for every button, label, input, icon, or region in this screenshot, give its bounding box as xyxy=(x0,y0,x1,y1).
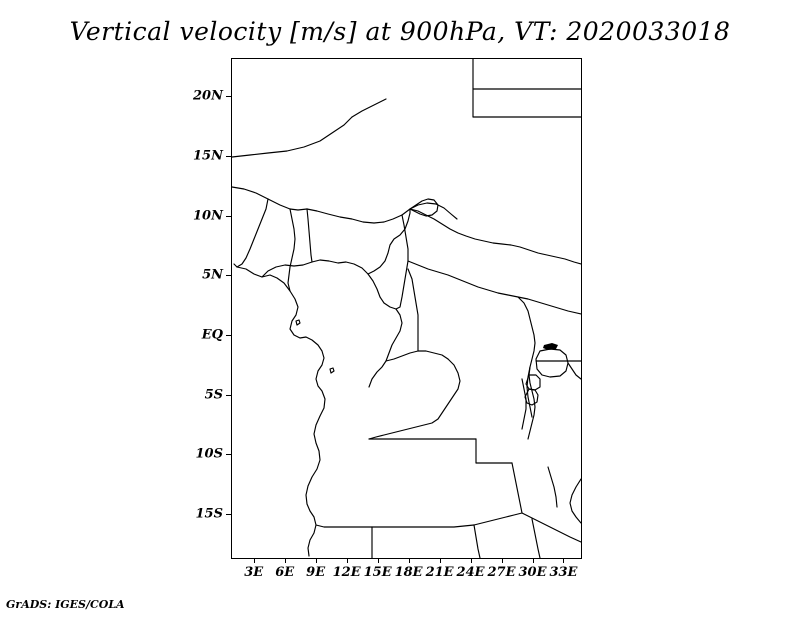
x-axis-tick-mark xyxy=(440,558,441,563)
y-axis-tick-label: 5S xyxy=(185,387,223,402)
x-axis-tick-label: 21E xyxy=(426,565,454,580)
x-axis-tick-mark xyxy=(471,558,472,563)
x-axis-tick-mark xyxy=(285,558,286,563)
x-axis-tick-label: 3E xyxy=(244,565,263,580)
y-axis-tick-mark xyxy=(226,454,231,455)
y-axis-tick-label: 10N xyxy=(185,208,223,223)
y-axis-tick-mark xyxy=(226,514,231,515)
x-axis-tick-label: 6E xyxy=(275,565,294,580)
x-axis-tick-mark xyxy=(254,558,255,563)
x-axis-tick-mark xyxy=(533,558,534,563)
x-axis-tick-mark xyxy=(347,558,348,563)
country-borders-overlay xyxy=(232,59,581,558)
x-axis-tick-label: 24E xyxy=(457,565,485,580)
x-axis-tick-label: 12E xyxy=(333,565,361,580)
y-axis-tick-mark xyxy=(226,96,231,97)
x-axis-tick-label: 33E xyxy=(549,565,577,580)
x-axis-tick-label: 27E xyxy=(488,565,516,580)
x-axis-tick-label: 9E xyxy=(306,565,325,580)
y-axis-tick-label: EQ xyxy=(185,327,223,342)
x-axis-tick-label: 15E xyxy=(364,565,392,580)
x-axis-tick-label: 30E xyxy=(519,565,547,580)
y-axis-tick-label: 15S xyxy=(185,507,223,522)
y-axis-tick-label: 10S xyxy=(185,447,223,462)
y-axis-tick-label: 20N xyxy=(185,89,223,104)
x-axis-tick-mark xyxy=(316,558,317,563)
y-axis-tick-mark xyxy=(226,156,231,157)
y-axis-tick-label: 5N xyxy=(185,268,223,283)
x-axis-tick-mark xyxy=(563,558,564,563)
y-axis-tick-mark xyxy=(226,275,231,276)
attribution-footer: GrADS: IGES/COLA xyxy=(6,598,125,611)
y-axis-tick-mark xyxy=(226,216,231,217)
x-axis-tick-mark xyxy=(409,558,410,563)
x-axis-tick-mark xyxy=(378,558,379,563)
x-axis-tick-label: 18E xyxy=(395,565,423,580)
y-axis-tick-label: 15N xyxy=(185,148,223,163)
y-axis-tick-mark xyxy=(226,395,231,396)
x-axis-tick-mark xyxy=(502,558,503,563)
map-plot-area xyxy=(231,58,582,559)
y-axis-tick-mark xyxy=(226,335,231,336)
page-title: Vertical velocity [m/s] at 900hPa, VT: 2… xyxy=(0,17,800,46)
